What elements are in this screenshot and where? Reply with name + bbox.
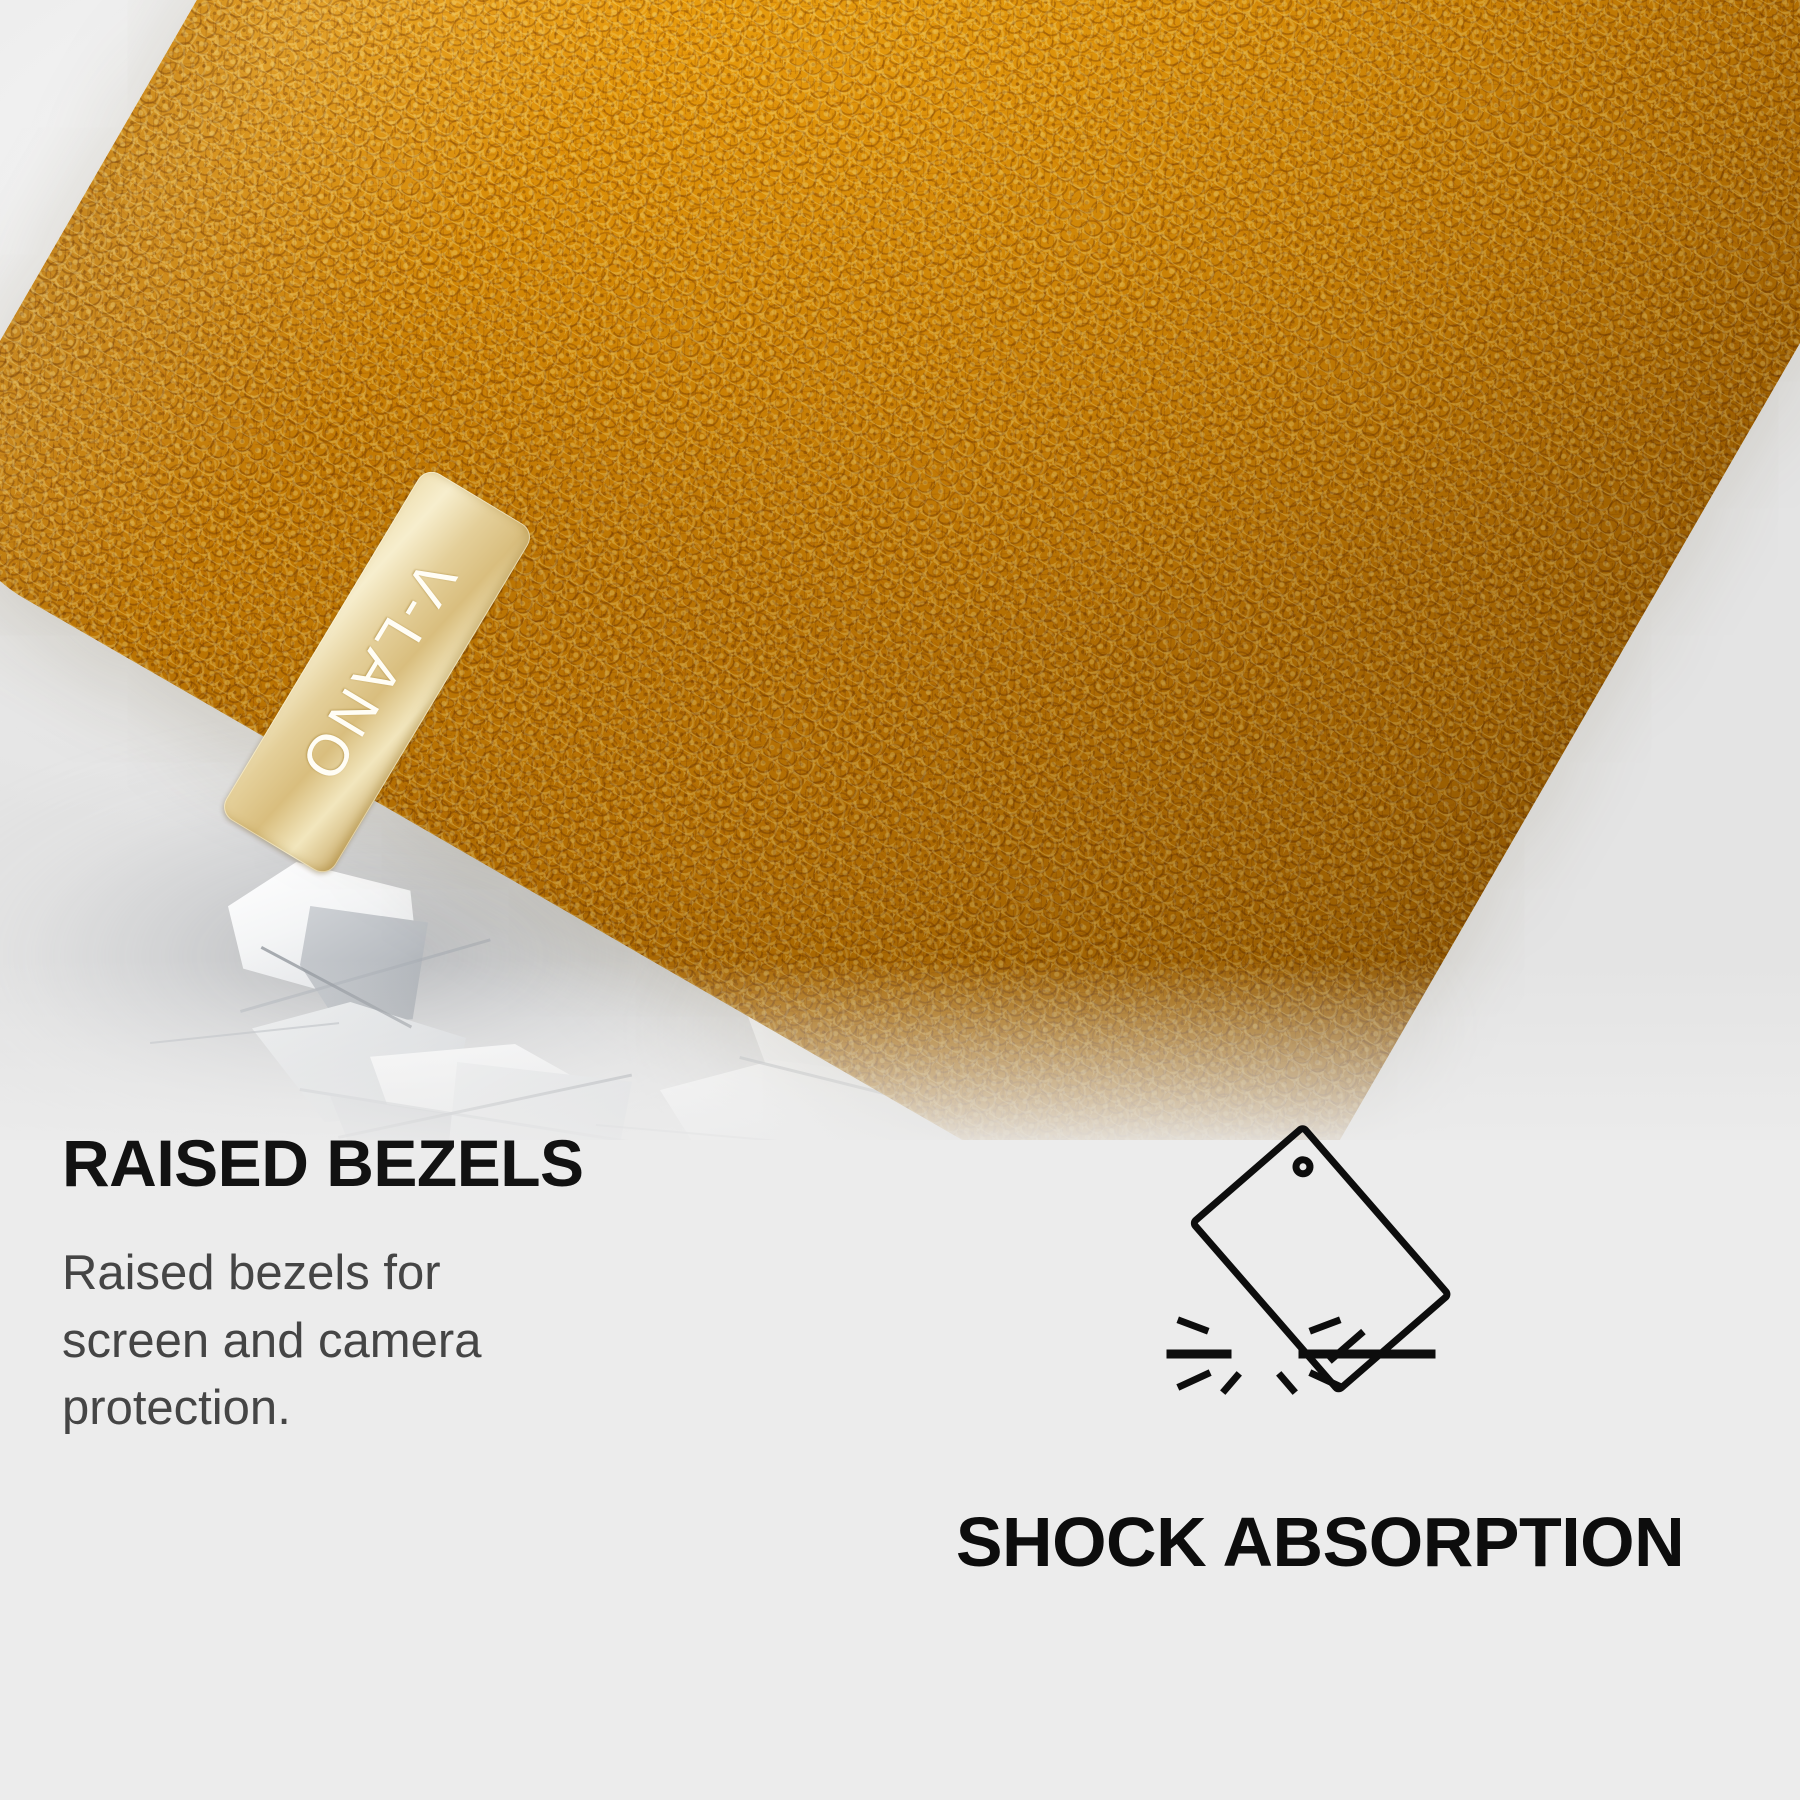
feature-title: RAISED BEZELS bbox=[62, 1130, 752, 1196]
camera-dot bbox=[1293, 1157, 1313, 1177]
phone-drop-impact-icon bbox=[1155, 1118, 1485, 1448]
hero-bottom-fade bbox=[0, 960, 1800, 1140]
feature-title: SHOCK ABSORPTION bbox=[956, 1502, 1684, 1582]
feature-description: Raised bezels for screen and camera prot… bbox=[62, 1240, 532, 1443]
feature-block-raised-bezels: RAISED BEZELS Raised bezels for screen a… bbox=[62, 1130, 752, 1443]
product-feature-panel: V-LANO RAISED BEZELS Raised bezels for s… bbox=[0, 0, 1800, 1800]
feature-block-shock-absorption: SHOCK ABSORPTION bbox=[880, 1118, 1760, 1582]
hero-product-photo: V-LANO bbox=[0, 0, 1800, 1140]
